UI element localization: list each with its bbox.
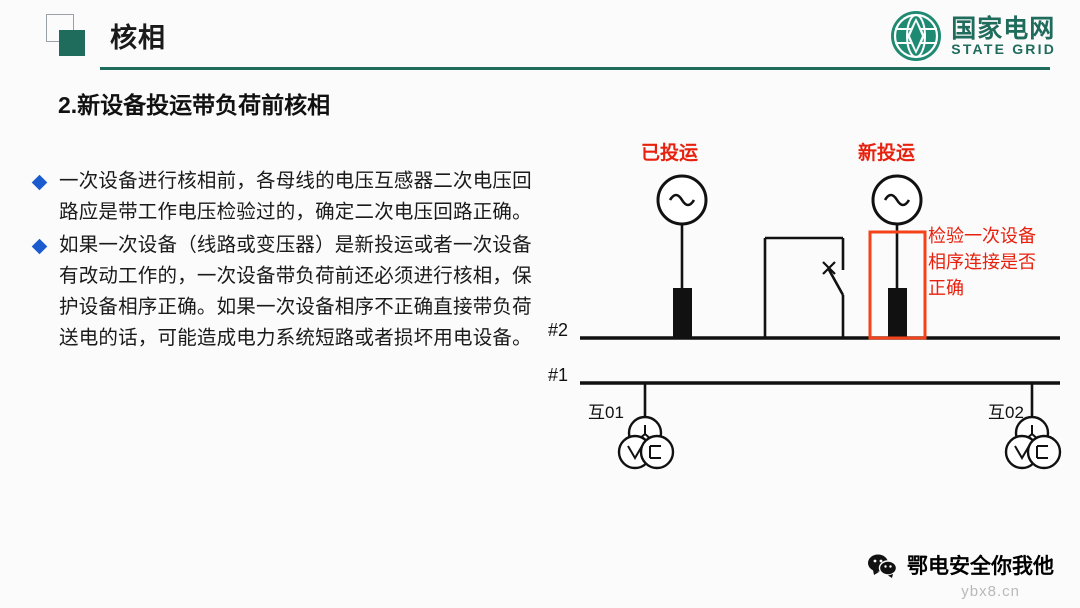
footer-text: 鄂电安全你我他 bbox=[907, 550, 1054, 580]
ct-label-left: 互01 bbox=[588, 398, 624, 423]
list-item-text: 如果一次设备（线路或变压器）是新投运或者一次设备有改动工作的，一次设备带负荷前还… bbox=[59, 230, 544, 354]
list-item-text: 一次设备进行核相前，各母线的电压互感器二次电压回路应是带工作电压检验过的，确定二… bbox=[59, 166, 544, 228]
state-grid-globe-icon bbox=[890, 10, 942, 62]
header-square-solid bbox=[59, 30, 85, 56]
diamond-bullet-icon bbox=[32, 239, 48, 255]
ct-label-right: 互02 bbox=[988, 398, 1024, 423]
page-title: 核相 bbox=[110, 16, 166, 55]
slide: 核相 国家电网 STATE GRID 2.新设备投运带负荷前核相 一次设备进行核… bbox=[0, 0, 1080, 608]
diagram-canvas bbox=[540, 120, 1070, 500]
wechat-icon bbox=[867, 553, 897, 578]
diamond-bullet-icon bbox=[32, 175, 48, 191]
diagram-label-existing: 已投运 bbox=[641, 138, 698, 165]
section-subtitle: 2.新设备投运带负荷前核相 bbox=[58, 86, 330, 120]
bus-label-2: #2 bbox=[548, 320, 568, 341]
diagram-label-new: 新投运 bbox=[858, 138, 915, 165]
header-rule bbox=[100, 67, 1050, 70]
ct-winding-left-b bbox=[641, 436, 673, 468]
breaker-right bbox=[888, 288, 907, 338]
breaker-left bbox=[673, 288, 692, 338]
logo-text-en: STATE GRID bbox=[951, 42, 1056, 57]
watermark: ybx8.cn bbox=[961, 583, 1020, 600]
open-switch-icon bbox=[828, 268, 843, 295]
list-item: 如果一次设备（线路或变压器）是新投运或者一次设备有改动工作的，一次设备带负荷前还… bbox=[34, 230, 544, 354]
ct-winding-right-b bbox=[1028, 436, 1060, 468]
footer: 鄂电安全你我他 bbox=[867, 550, 1054, 580]
brand-logo: 国家电网 STATE GRID bbox=[890, 10, 1056, 62]
bullet-list: 一次设备进行核相前，各母线的电压互感器二次电压回路应是带工作电压检验过的，确定二… bbox=[34, 166, 544, 356]
bus-label-1: #1 bbox=[548, 365, 568, 386]
list-item: 一次设备进行核相前，各母线的电压互感器二次电压回路应是带工作电压检验过的，确定二… bbox=[34, 166, 544, 228]
logo-text-cn: 国家电网 bbox=[951, 16, 1056, 42]
single-line-diagram: 已投运 新投运 检验一次设备相序连接是否正确 #2 #1 互01 互02 bbox=[540, 120, 1070, 500]
diagram-annotation-note: 检验一次设备相序连接是否正确 bbox=[928, 223, 1048, 301]
